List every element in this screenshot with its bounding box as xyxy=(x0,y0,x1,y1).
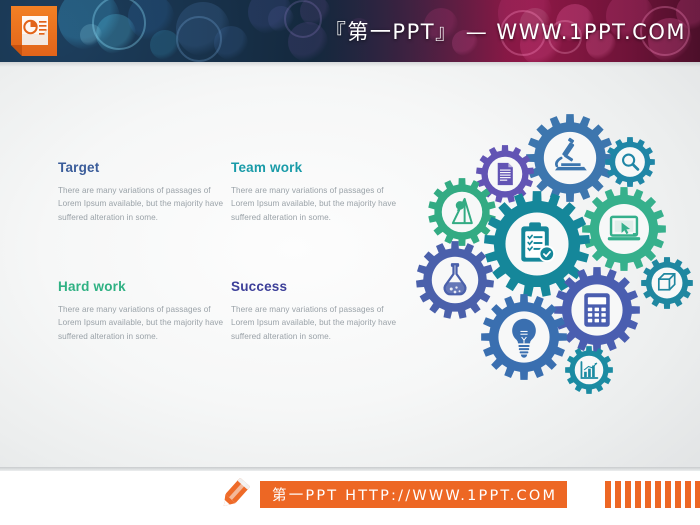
footer-stripe xyxy=(675,481,681,508)
footer-stripe xyxy=(685,481,691,508)
footer-stripe xyxy=(695,481,700,508)
footer-stripe xyxy=(635,481,641,508)
footer-stripe xyxy=(605,481,611,508)
footer-stripes xyxy=(605,481,700,508)
powerpoint-logo-icon xyxy=(8,3,60,59)
slide-canvas: 『第一PPT』 — WWW.1PPT.COM Target T xyxy=(0,0,700,525)
block-title: Target xyxy=(58,160,226,175)
block-body: There are many variations of passages of… xyxy=(231,184,399,224)
footer-stripe xyxy=(665,481,671,508)
block-title: Success xyxy=(231,279,399,294)
block-title: Hard work xyxy=(58,279,226,294)
block-body: There are many variations of passages of… xyxy=(58,303,226,343)
footer-stripe xyxy=(655,481,661,508)
footer-stripe xyxy=(615,481,621,508)
text-block-hard-work: Hard work There are many variations of p… xyxy=(58,279,226,343)
pencil-icon xyxy=(214,476,254,514)
header-banner: 『第一PPT』 — WWW.1PPT.COM xyxy=(0,0,700,62)
footer-url-bar: 第一PPT HTTP://WWW.1PPT.COM xyxy=(260,481,567,508)
block-body: There are many variations of passages of… xyxy=(58,184,226,224)
block-title: Team work xyxy=(231,160,399,175)
footer-stripe xyxy=(625,481,631,508)
slide-body xyxy=(0,62,700,467)
block-body: There are many variations of passages of… xyxy=(231,303,399,343)
footer-stripe xyxy=(645,481,651,508)
footer-url-text: 第一PPT HTTP://WWW.1PPT.COM xyxy=(272,484,557,505)
text-block-target: Target There are many variations of pass… xyxy=(58,160,226,224)
text-block-team-work: Team work There are many variations of p… xyxy=(231,160,399,224)
text-block-success: Success There are many variations of pas… xyxy=(231,279,399,343)
header-title: 『第一PPT』 — WWW.1PPT.COM xyxy=(325,0,686,62)
